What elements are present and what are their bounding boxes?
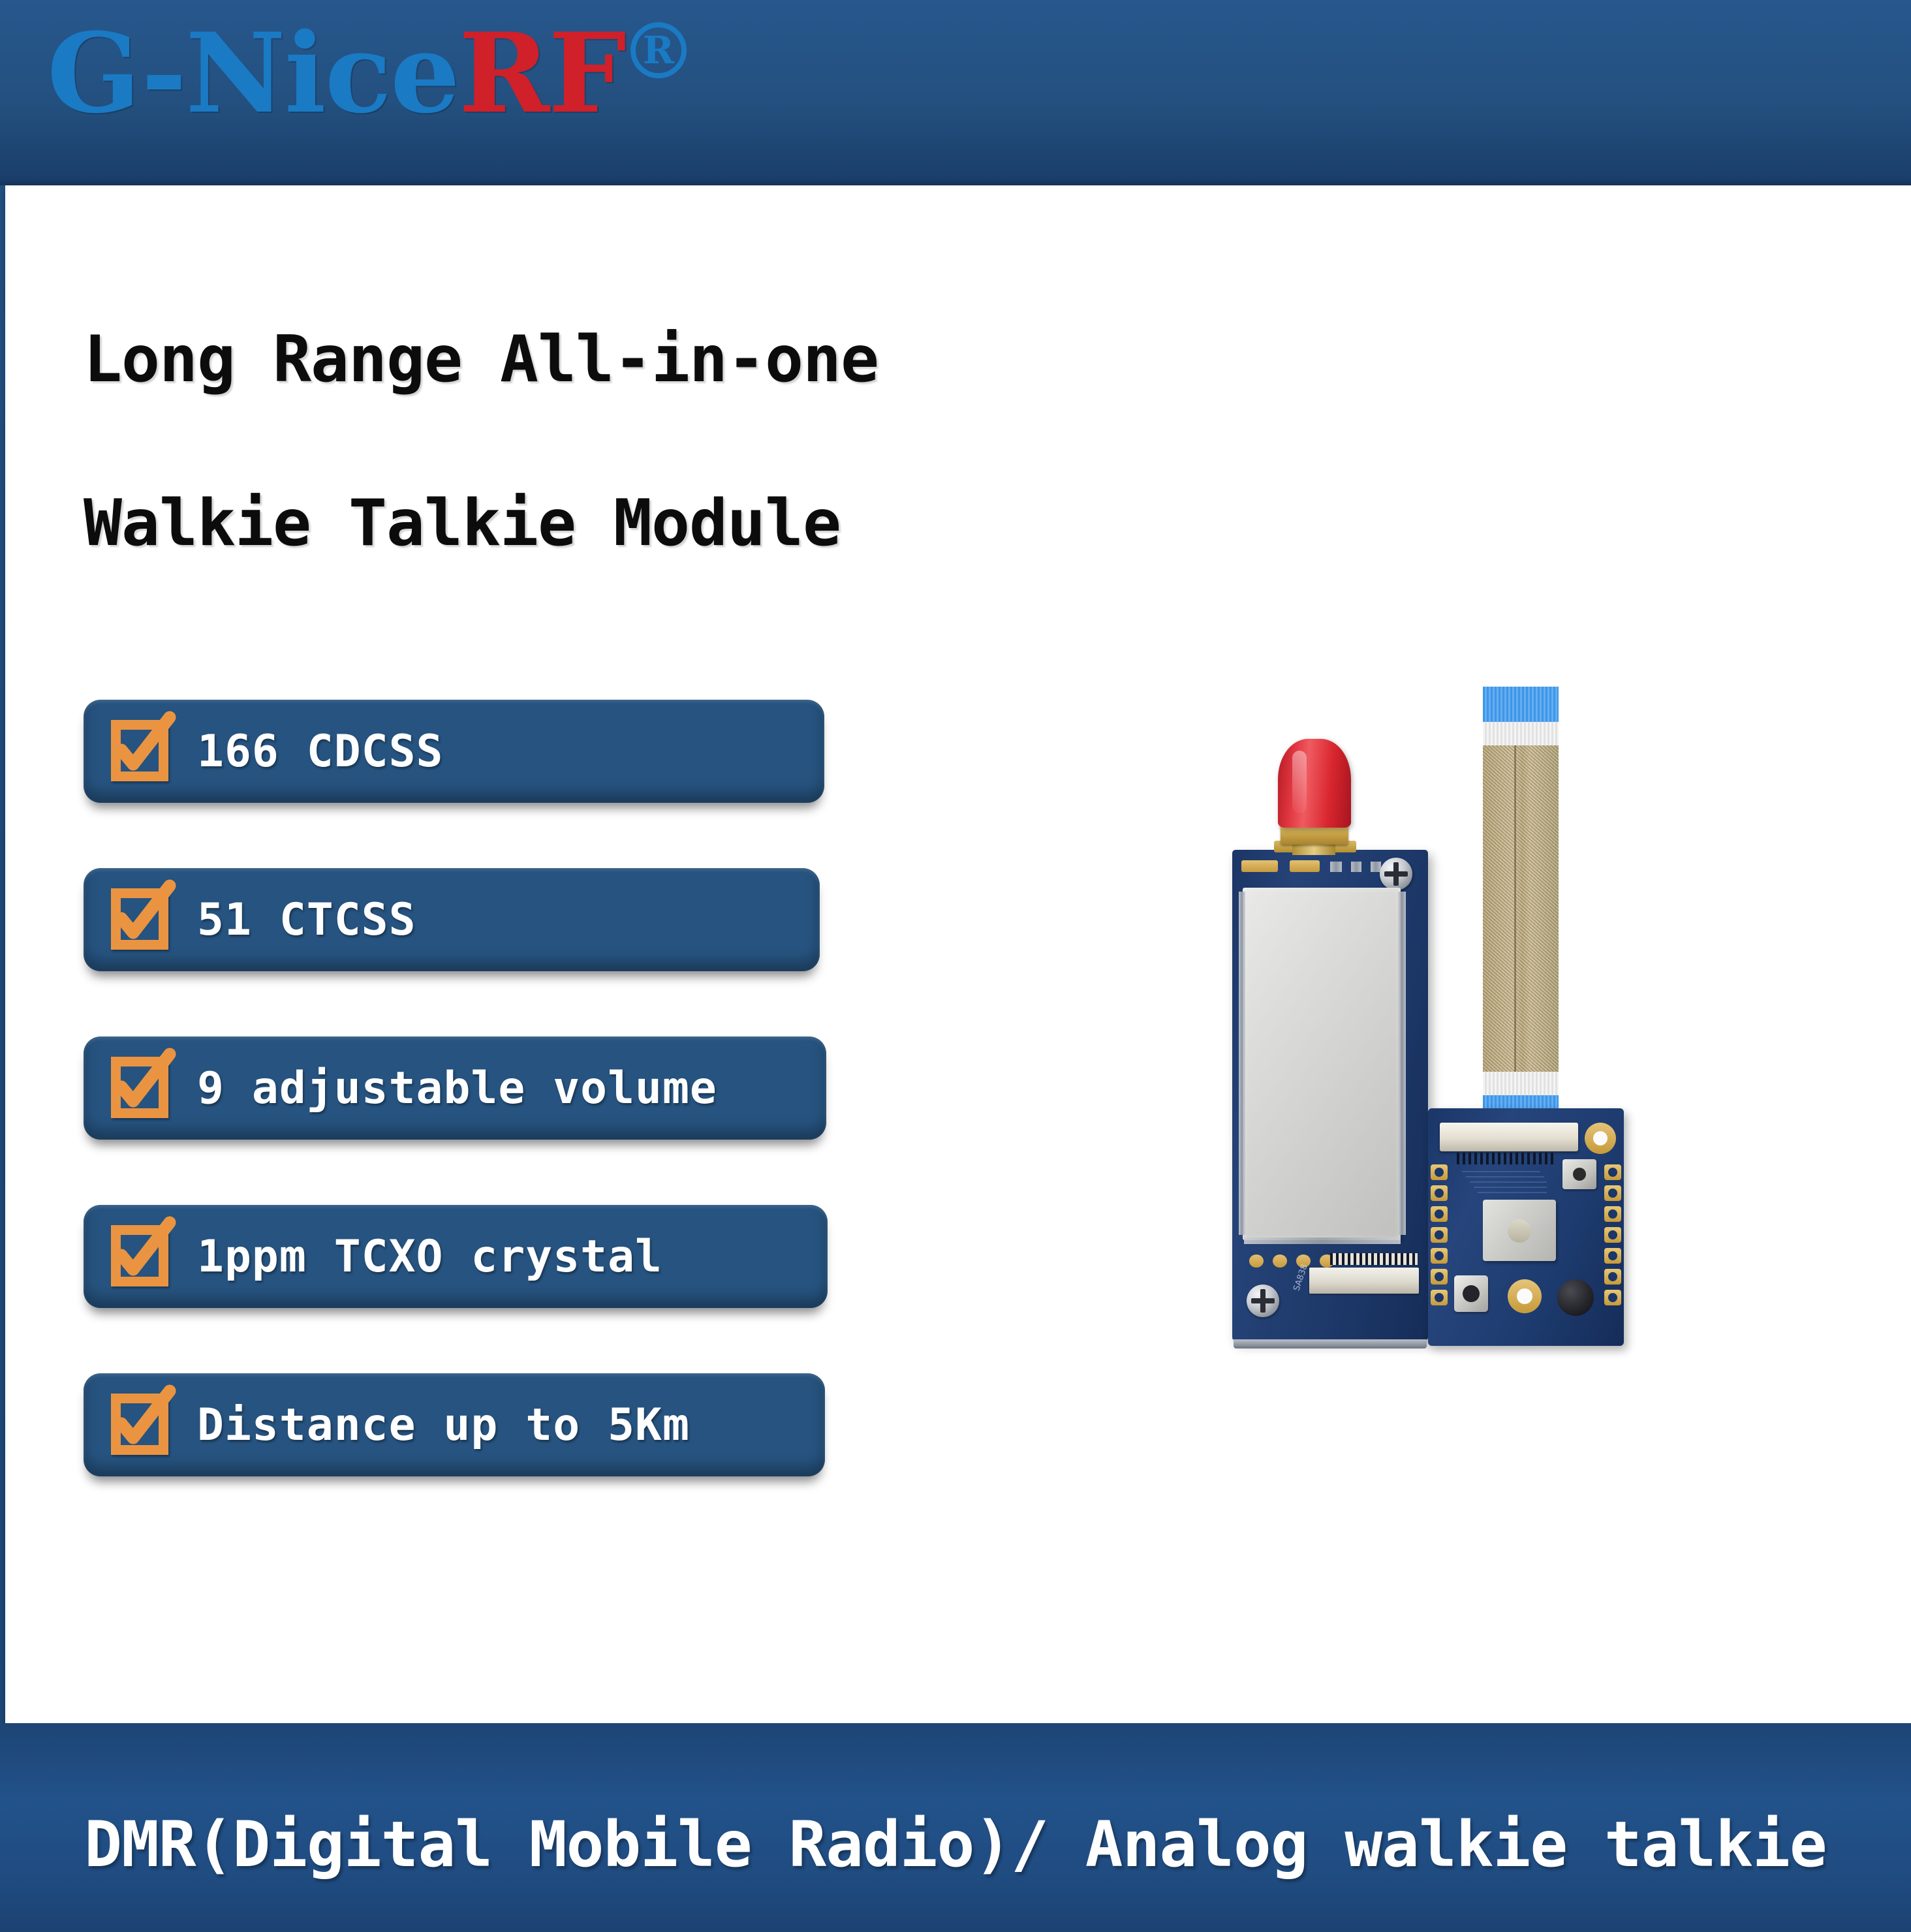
feature-item-ctcss[interactable]: 51 CTCSS <box>84 868 820 971</box>
castellated-pad <box>1431 1227 1448 1243</box>
shield-solder-rail <box>1398 892 1406 1235</box>
castellated-pad <box>1604 1206 1621 1222</box>
feature-label: 166 CDCSS <box>197 726 443 777</box>
io-pad <box>1273 1254 1287 1268</box>
checkbox-checked-icon <box>107 1221 175 1292</box>
castellated-pad <box>1431 1185 1448 1201</box>
feature-label: 9 adjustable volume <box>197 1063 717 1114</box>
test-point <box>1351 862 1361 872</box>
shield-solder-rail <box>1244 1238 1401 1244</box>
checkbox-checked-icon <box>107 716 175 787</box>
feature-item-volume[interactable]: 9 adjustable volume <box>84 1036 826 1140</box>
checkbox-checked-icon <box>107 1390 175 1460</box>
registered-trademark-icon: R <box>630 22 687 78</box>
castellated-pad <box>1431 1206 1448 1222</box>
walkie-talkie-module-board: SA838 <box>1232 850 1428 1341</box>
microphone-can <box>1483 1200 1556 1261</box>
connector-pins <box>1330 1253 1418 1265</box>
mounting-screw <box>1380 858 1412 890</box>
feature-label: 51 CTCSS <box>197 894 416 946</box>
checkbox-checked-icon <box>107 1053 175 1123</box>
feature-item-tcxo[interactable]: 1ppm TCXO crystal <box>84 1205 828 1308</box>
headline-line-2: Walkie Talkie Module <box>84 490 997 557</box>
rf-shield-can <box>1243 888 1401 1240</box>
silkscreen-text: SA838 <box>1292 1263 1309 1292</box>
shield-solder-rail <box>1239 892 1245 1235</box>
power-pad-positive <box>1241 860 1278 872</box>
castellated-pad <box>1431 1248 1448 1264</box>
power-pad-negative <box>1290 860 1320 872</box>
brand-name-red: RF <box>459 18 625 128</box>
mounting-hole <box>1585 1123 1616 1154</box>
ffc-connector <box>1309 1268 1419 1294</box>
headline-line-1: Long Range All-in-one <box>84 326 997 394</box>
product-photo: SA838 <box>1181 666 1664 1390</box>
ffc-ribbon-cable <box>1483 687 1559 1123</box>
connector-pins <box>1457 1153 1555 1164</box>
test-point <box>1330 862 1342 872</box>
checkbox-checked-icon <box>107 884 175 955</box>
footer-caption: DMR(Digital Mobile Radio)/ Analog walkie… <box>0 1808 1911 1881</box>
castellated-pad <box>1604 1227 1621 1243</box>
tact-switch[interactable] <box>1454 1275 1488 1312</box>
red-antenna-cap <box>1278 739 1351 828</box>
feature-list: 166 CDCSS 51 CTCSS 9 adjustable volume 1… <box>84 700 841 1542</box>
castellated-pad <box>1604 1248 1621 1264</box>
brand-logo: G-Nice RF R <box>47 18 687 142</box>
board-edge <box>1234 1339 1427 1348</box>
castellated-pad <box>1604 1185 1621 1201</box>
castellated-pad <box>1604 1290 1621 1305</box>
feature-item-cdcss[interactable]: 166 CDCSS <box>84 700 824 803</box>
feature-label: Distance up to 5Km <box>197 1399 690 1451</box>
castellated-pad <box>1431 1164 1448 1180</box>
feature-label: 1ppm TCXO crystal <box>197 1231 662 1283</box>
io-pad <box>1249 1254 1264 1268</box>
trim-potentiometer <box>1562 1159 1596 1189</box>
speaker-dot <box>1557 1279 1594 1316</box>
ffc-connector <box>1440 1123 1578 1151</box>
castellated-pad <box>1431 1290 1448 1305</box>
feature-item-distance[interactable]: Distance up to 5Km <box>84 1373 825 1476</box>
brand-name-blue: G-Nice <box>47 18 459 128</box>
castellated-pad <box>1604 1269 1621 1285</box>
breakout-adapter-board <box>1428 1108 1624 1346</box>
mounting-screw <box>1247 1285 1279 1317</box>
castellated-pad <box>1431 1269 1448 1285</box>
castellated-pad <box>1604 1164 1621 1180</box>
headline-block: Long Range All-in-one Walkie Talkie Modu… <box>84 326 997 557</box>
mounting-hole <box>1508 1279 1542 1313</box>
